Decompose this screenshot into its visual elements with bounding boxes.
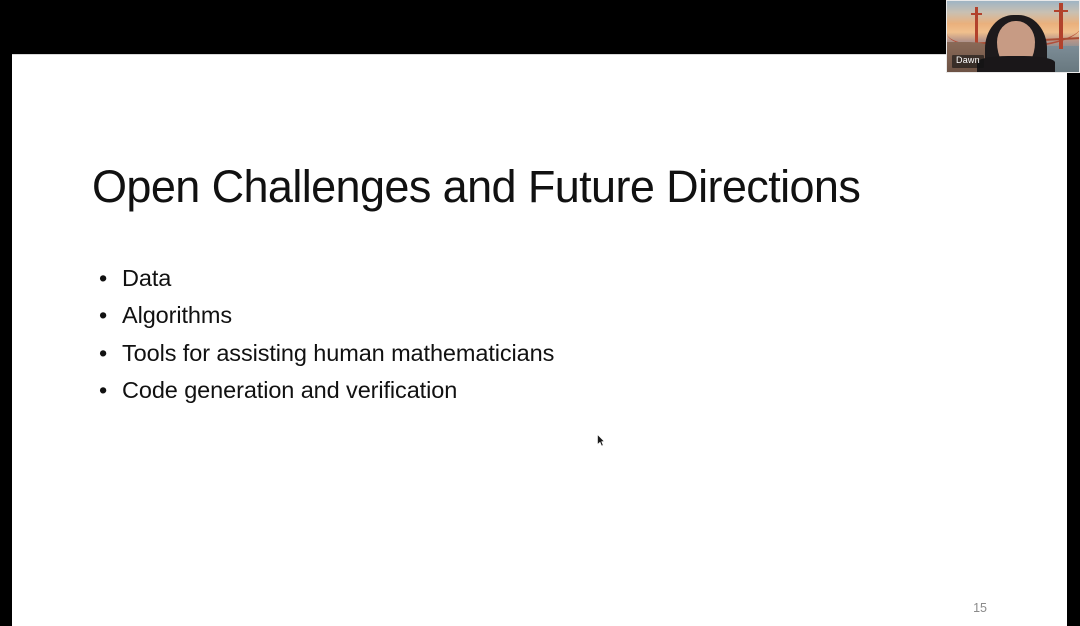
bullet-item: • Algorithms	[92, 303, 952, 327]
bullet-item: • Tools for assisting human mathematicia…	[92, 341, 952, 365]
bullet-item-label: Algorithms	[122, 302, 232, 328]
slide-title: Open Challenges and Future Directions	[92, 162, 860, 212]
bullet-item: • Data	[92, 266, 952, 290]
presentation-screen: Open Challenges and Future Directions • …	[0, 0, 1080, 626]
bullet-item-label: Code generation and verification	[122, 377, 457, 403]
webcam-video-panel[interactable]: Dawn	[946, 0, 1080, 73]
slide-top-divider	[12, 54, 1067, 55]
bullet-item: • Code generation and verification	[92, 378, 952, 402]
bullet-marker-icon: •	[99, 378, 107, 402]
webcam-participant-name: Dawn	[952, 55, 984, 68]
slide-bullet-list: • Data • Algorithms • Tools for assistin…	[92, 266, 952, 416]
mouse-cursor-icon	[597, 434, 605, 447]
slide-page-number: 15	[973, 601, 987, 615]
slide-canvas: Open Challenges and Future Directions • …	[12, 54, 1067, 626]
bridge-tower-left-shape	[975, 7, 978, 47]
bullet-marker-icon: •	[99, 341, 107, 365]
bullet-marker-icon: •	[99, 266, 107, 290]
bullet-marker-icon: •	[99, 303, 107, 327]
bullet-item-label: Tools for assisting human mathematicians	[122, 340, 554, 366]
bridge-tower-right-shape	[1059, 3, 1063, 49]
speaker-shoulders-shape	[977, 56, 1055, 72]
bullet-item-label: Data	[122, 265, 171, 291]
